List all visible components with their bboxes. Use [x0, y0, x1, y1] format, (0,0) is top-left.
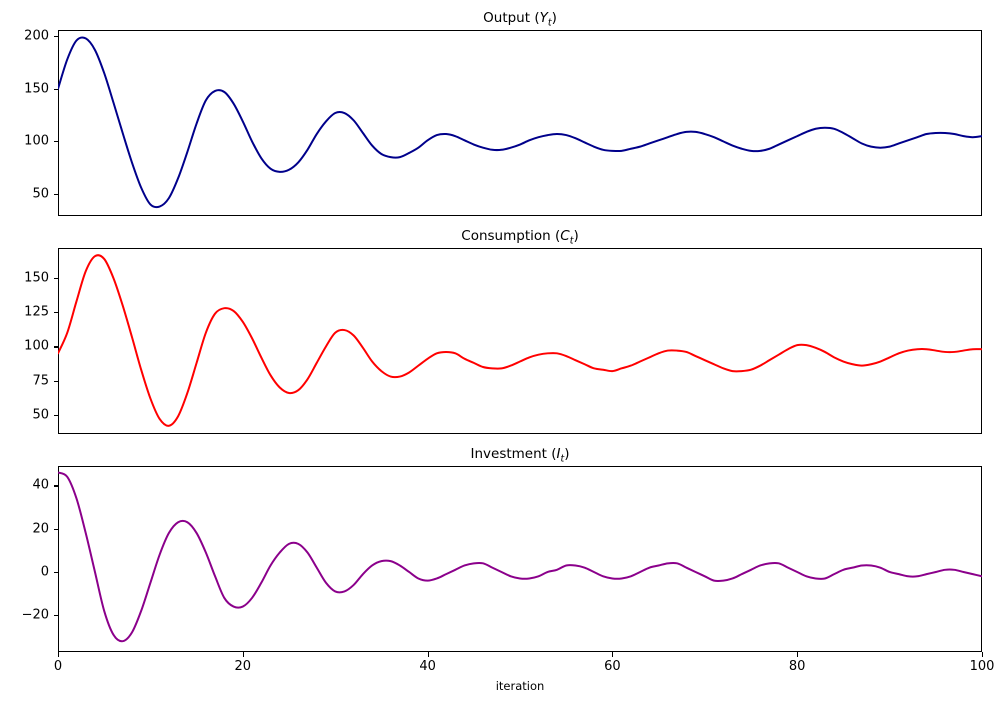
subplot-title-consumption-text: Consumption (: [461, 228, 560, 244]
ytick-mark: [54, 529, 59, 530]
ytick-label: 200: [0, 29, 49, 44]
subplot-title-output: Output (Yt): [58, 10, 982, 29]
subplot-title-investment: Investment (It): [58, 446, 982, 465]
xtick-mark: [243, 652, 244, 657]
ytick-label: 40: [0, 478, 49, 493]
subplot-title-consumption-close: ): [573, 228, 578, 244]
figure-canvas: Output (Yt) Consumption (Ct) Investment …: [0, 0, 1002, 701]
ytick-mark: [54, 381, 59, 382]
ytick-label: 75: [0, 373, 49, 388]
subplot-title-investment-close: ): [564, 446, 569, 462]
ytick-mark: [54, 346, 59, 347]
line-series-investment: [58, 466, 982, 652]
ytick-mark: [54, 141, 59, 142]
ytick-label: 0: [0, 564, 49, 579]
ytick-label: 20: [0, 521, 49, 536]
ytick-mark: [54, 89, 59, 90]
subplot-title-investment-text: Investment (: [470, 446, 556, 462]
ytick-mark: [54, 615, 59, 616]
ytick-mark: [54, 312, 59, 313]
ytick-mark: [54, 278, 59, 279]
ytick-label: 50: [0, 407, 49, 422]
ytick-mark: [54, 36, 59, 37]
xtick-mark: [428, 652, 429, 657]
xtick-mark: [797, 652, 798, 657]
ytick-label: −20: [0, 608, 49, 623]
subplot-title-output-close: ): [552, 10, 557, 26]
ytick-mark: [54, 194, 59, 195]
xtick-mark: [982, 652, 983, 657]
xtick-label: 60: [604, 659, 621, 674]
xtick-label: 20: [235, 659, 252, 674]
xtick-label: 40: [419, 659, 436, 674]
subplot-title-output-text: Output (: [483, 10, 539, 26]
ytick-label: 150: [0, 271, 49, 286]
ytick-mark: [54, 572, 59, 573]
ytick-mark: [54, 485, 59, 486]
ytick-label: 50: [0, 186, 49, 201]
ytick-label: 100: [0, 134, 49, 149]
xtick-mark: [612, 652, 613, 657]
subplot-output: [58, 30, 982, 216]
ytick-label: 100: [0, 339, 49, 354]
ytick-label: 125: [0, 305, 49, 320]
subplot-investment: [58, 466, 982, 652]
line-series-consumption: [58, 248, 982, 434]
subplot-title-consumption-symbol: C: [560, 228, 569, 244]
ytick-label: 150: [0, 81, 49, 96]
ytick-mark: [54, 415, 59, 416]
xtick-mark: [58, 652, 59, 657]
subplot-consumption: [58, 248, 982, 434]
xtick-label: 100: [970, 659, 995, 674]
line-series-output: [58, 30, 982, 216]
xtick-label: 80: [789, 659, 806, 674]
subplot-title-output-symbol: Y: [540, 10, 548, 26]
xtick-label: 0: [54, 659, 62, 674]
subplot-title-consumption: Consumption (Ct): [58, 228, 982, 247]
xaxis-label: iteration: [58, 679, 982, 693]
